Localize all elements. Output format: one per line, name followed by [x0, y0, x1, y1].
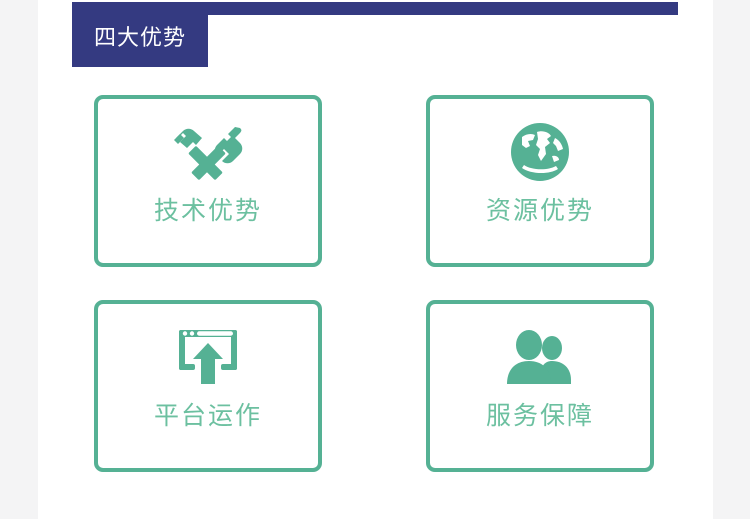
- advantage-card-label: 平台运作: [154, 404, 262, 429]
- advantage-card-label: 技术优势: [154, 199, 262, 224]
- browser-upload-icon: [177, 326, 239, 388]
- advantage-card-grid: 技术优势: [94, 95, 694, 474]
- advantage-card-service[interactable]: 服务保障: [426, 300, 654, 472]
- advantage-card-resources[interactable]: 资源优势: [426, 95, 654, 267]
- advantage-card-label: 服务保障: [486, 404, 594, 429]
- hammer-wrench-icon: [172, 121, 244, 183]
- advantage-card-technology[interactable]: 技术优势: [94, 95, 322, 267]
- section-tab-label: 四大优势: [94, 27, 186, 49]
- section-tab: 四大优势: [72, 8, 208, 67]
- advantage-card-label: 资源优势: [486, 199, 594, 224]
- globe-icon: [509, 121, 571, 183]
- two-people-icon: [507, 326, 573, 388]
- advantage-card-platform[interactable]: 平台运作: [94, 300, 322, 472]
- content-panel: 四大优势: [38, 0, 713, 519]
